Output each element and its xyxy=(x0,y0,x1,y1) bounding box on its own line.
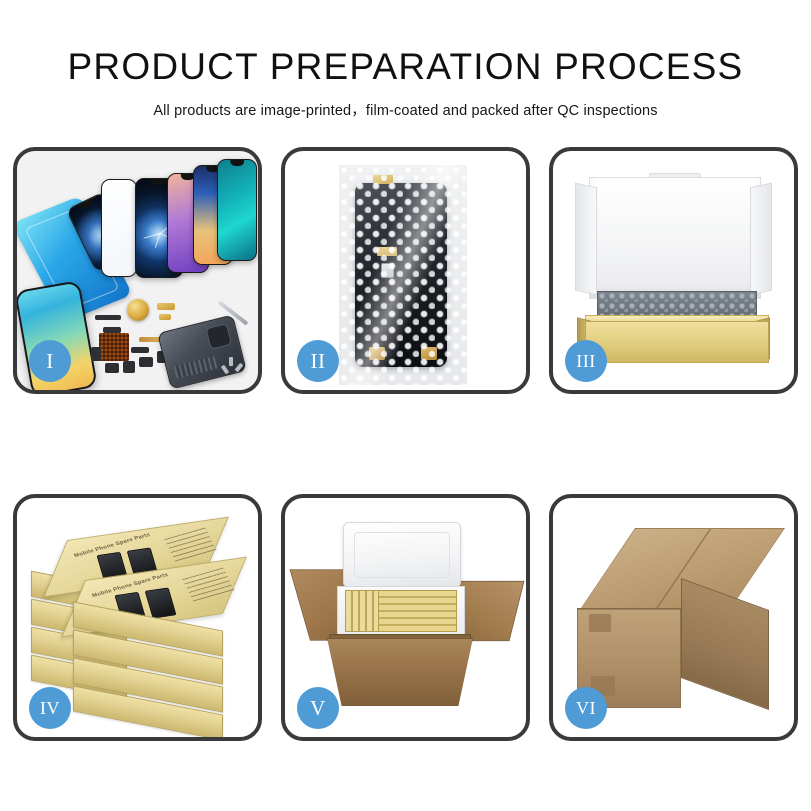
plastic-sheen-overlay xyxy=(339,165,467,385)
step-panel-5: V xyxy=(281,494,530,741)
printed-spec-lines-icon xyxy=(182,568,236,605)
blank-screen-pane-icon xyxy=(101,179,137,277)
step-panel-4: Mobile Phone Spare Parts Mobile Phone Sp… xyxy=(13,494,262,741)
small-chip-icon xyxy=(123,361,135,373)
small-chip-icon xyxy=(103,327,121,333)
gold-connector-icon xyxy=(159,314,171,320)
light-burst-ray-icon xyxy=(155,233,161,248)
carton-tape-patch-icon xyxy=(589,614,611,632)
camera-module-icon xyxy=(127,299,149,321)
page-header: PRODUCT PREPARATION PROCESS All products… xyxy=(0,0,811,120)
phone-gradient-teal-icon xyxy=(217,159,257,261)
screw-icon xyxy=(229,357,233,366)
carton-front-icon xyxy=(327,638,473,706)
box-lid-panel-icon xyxy=(589,177,761,299)
gold-box-front-icon xyxy=(585,321,769,363)
step-panel-2: II xyxy=(281,147,530,394)
small-chip-icon xyxy=(131,347,149,353)
step-panel-1: I xyxy=(13,147,262,394)
gold-box-stack: Mobile Phone Spare Parts Mobile Phone Sp… xyxy=(31,520,246,720)
small-chip-icon xyxy=(139,357,153,367)
phone-back-housing-icon xyxy=(157,314,247,389)
step-badge-2: II xyxy=(297,340,339,382)
gold-boxes-packed-icon xyxy=(345,590,379,632)
page-title: PRODUCT PREPARATION PROCESS xyxy=(0,0,811,87)
step-badge-3: III xyxy=(565,340,607,382)
box-lid-flap-left-icon xyxy=(575,183,597,296)
carton-seam-icon xyxy=(577,608,681,610)
box-lid-flap-right-icon xyxy=(750,183,772,296)
page-subtitle: All products are image-printed，film-coat… xyxy=(0,87,811,120)
step-badge-4: IV xyxy=(29,687,71,729)
step-badge-1: I xyxy=(29,340,71,382)
step-badge-5: V xyxy=(297,687,339,729)
phone-notch-icon xyxy=(230,160,244,166)
process-steps-grid: I II xyxy=(13,147,798,747)
carton-side-face-icon xyxy=(681,578,769,710)
foam-box-lid-icon xyxy=(343,522,461,588)
phone-notch-icon xyxy=(151,179,168,185)
printed-screen-image-icon xyxy=(145,587,177,618)
earpiece-speaker-icon xyxy=(95,315,121,320)
step-panel-3: III xyxy=(549,147,798,394)
product-preparation-process-page: PRODUCT PREPARATION PROCESS All products… xyxy=(0,0,811,811)
printed-spec-lines-icon xyxy=(164,528,218,565)
step-panel-6: VI xyxy=(549,494,798,741)
gold-connector-icon xyxy=(157,303,175,310)
small-chip-icon xyxy=(105,363,119,373)
step-badge-6: VI xyxy=(565,687,607,729)
logic-board-icon xyxy=(99,333,129,361)
small-chip-icon xyxy=(91,347,101,361)
